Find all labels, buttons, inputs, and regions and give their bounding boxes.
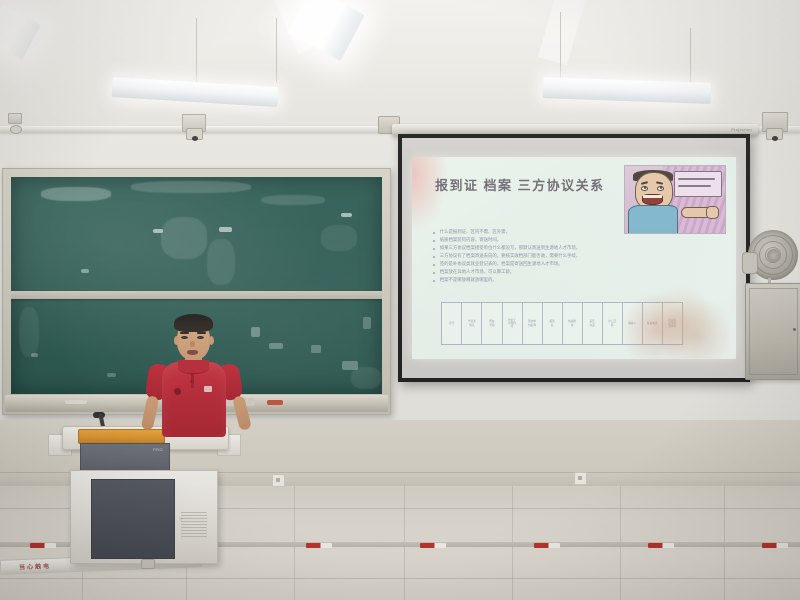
power-outlet[interactable] — [574, 472, 587, 485]
surveillance-camera — [186, 128, 203, 140]
light-hanger-wire — [690, 28, 691, 82]
cartoon-teeth — [643, 195, 662, 198]
cabinet-door[interactable] — [749, 288, 798, 375]
shirt-logo — [204, 386, 212, 392]
lectern-panel-label: PRO — [153, 447, 163, 452]
table-header-cell: 档案寄 往 — [563, 303, 583, 343]
table-header-cell: 签约单 位名称 — [523, 303, 543, 343]
light-hanger-wire — [196, 18, 197, 82]
light-hanger-wire — [560, 12, 561, 80]
table-header-cell: 所在 学院 — [482, 303, 502, 343]
cartoon-illustration — [624, 165, 726, 234]
projector-screen-surface: 报到证 档案 三方协议关系 — [402, 138, 746, 378]
camera-lens-icon — [772, 136, 778, 141]
table-header-cell: 是否 派遣 — [583, 303, 603, 343]
ceiling-beam — [538, 0, 589, 65]
surveillance-camera — [766, 128, 783, 140]
shirt-button — [190, 380, 193, 383]
surveillance-camera — [10, 125, 22, 134]
slide-title: 报到证 档案 三方协议关系 — [435, 175, 605, 194]
step-warning-marker — [762, 543, 788, 548]
fan-neck — [742, 252, 758, 274]
presenter-arm — [232, 395, 252, 431]
shirt-collar — [178, 360, 209, 374]
slide-bullet-list: 什么是报到证、区内不需、区外需。 纸质档案装何内容、寄送时间。 如果三方协议档案… — [432, 228, 684, 285]
cartoon-hand — [706, 206, 719, 219]
shirt-badge — [174, 388, 181, 395]
presenter — [138, 312, 250, 437]
chalk-stick[interactable] — [65, 400, 87, 404]
projector-screen: 报到证 档案 三方协议关系 — [398, 134, 750, 382]
presenter-eyebrow — [197, 332, 206, 334]
electrical-cabinet[interactable] — [745, 283, 800, 380]
lectern-vent-grill — [181, 511, 207, 537]
presenter-arm — [141, 395, 160, 431]
table-header-cell: 序号 — [442, 303, 462, 343]
chalk-box[interactable] — [267, 400, 283, 405]
step-warning-marker — [534, 543, 560, 548]
cabinet-handle-icon[interactable] — [793, 328, 796, 331]
lectern-cabinet[interactable] — [70, 470, 218, 564]
presenter-eye — [181, 336, 188, 339]
presenter-hair — [174, 314, 213, 332]
lectern-front-panel — [91, 479, 175, 559]
slide-bullet: 档案放在异地人才市场，可以算工龄。 — [432, 268, 684, 275]
light-hanger-wire — [276, 18, 277, 82]
camera-mount — [8, 113, 22, 124]
step-warning-marker — [648, 543, 674, 548]
slide-bullet: 纸质档案装何内容、寄送时间。 — [432, 236, 684, 243]
cartoon-pupil — [644, 187, 646, 189]
cartoon-pupil — [660, 187, 662, 189]
table-header-cell: 报到 证 — [543, 303, 563, 343]
step-warning-marker — [420, 543, 446, 548]
lectern-caster — [141, 559, 155, 569]
ceiling — [0, 0, 800, 132]
slide-bullet: 三方协议有了档案寄送去向的，要核实收档部门能否收，需要什么手续。 — [432, 252, 684, 259]
presenter-mouth — [187, 350, 198, 355]
presenter-eye — [197, 336, 204, 339]
presentation-slide: 报到证 档案 三方协议关系 — [412, 157, 735, 359]
wall-fan[interactable] — [740, 230, 798, 286]
cartoon-speech-bubble — [674, 171, 722, 197]
slide-bullet: 如果三方协议档案接受单位什么都没写，那默认寄送到生源地人才市场。 — [432, 244, 684, 251]
power-outlet[interactable] — [272, 474, 285, 487]
presenter-ear — [174, 336, 179, 345]
slide-bullet: 签的是补协议类就业登记表的，档案是寄送回生源地人才市场。 — [432, 260, 684, 267]
step-warning-marker — [306, 543, 332, 548]
conduit-warning-text: 当心触电 — [19, 561, 51, 571]
classroom-photo: Projection 报到证 档案 三方协议关系 — [0, 0, 800, 600]
chalkboard-divider — [11, 291, 382, 299]
table-header-cell: 毕业于 何年何 月 — [503, 303, 523, 343]
roller-brand-label: Projection — [731, 127, 752, 132]
table-header-cell: 毕业生 姓名 — [462, 303, 482, 343]
step-warning-marker — [30, 543, 56, 548]
bubble-text-line — [678, 185, 711, 187]
camera-lens-icon — [192, 136, 198, 141]
slide-watermark — [619, 282, 729, 359]
presenter-nose — [190, 341, 195, 347]
bubble-text-line — [678, 178, 715, 180]
presenter-ear — [209, 336, 214, 345]
cartoon-shouting-mouth — [642, 194, 663, 205]
fan-hub — [767, 249, 780, 262]
slide-bullet: 什么是报到证、区内不需、区外需。 — [432, 228, 684, 235]
presenter-eyebrow — [180, 332, 189, 334]
